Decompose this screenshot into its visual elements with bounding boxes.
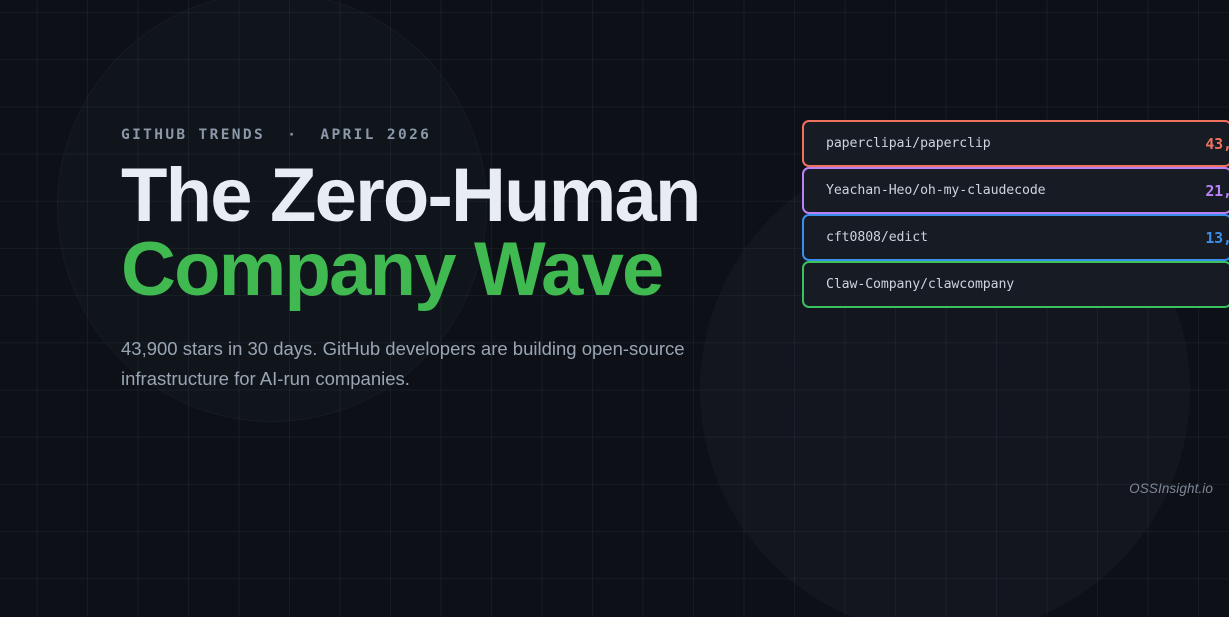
repo-card[interactable]: Yeachan-Heo/oh-my-claudecode 21,015 ★ bbox=[802, 167, 1229, 214]
eyebrow-label: GITHUB TRENDS · APRIL 2026 bbox=[121, 128, 821, 143]
repo-star-group: 43,911 ★ bbox=[1205, 135, 1229, 153]
watermark: OSSInsight.io bbox=[1129, 481, 1213, 496]
headline-column: GITHUB TRENDS · APRIL 2026 The Zero-Huma… bbox=[121, 128, 821, 394]
repo-name: Claw-Company/clawcompany bbox=[826, 277, 1014, 292]
repo-name: cft0808/edict bbox=[826, 230, 928, 245]
headline-line-1: The Zero-Human bbox=[121, 159, 821, 234]
repo-name: Yeachan-Heo/oh-my-claudecode bbox=[826, 183, 1046, 198]
page-title: The Zero-Human Company Wave bbox=[121, 159, 821, 309]
subtitle-text: 43,900 stars in 30 days. GitHub develope… bbox=[121, 334, 701, 394]
social-card: GITHUB TRENDS · APRIL 2026 The Zero-Huma… bbox=[0, 0, 1229, 617]
repo-star-group: 21,015 ★ bbox=[1205, 182, 1229, 200]
trending-repo-list: paperclipai/paperclip 43,911 ★ Yeachan-H… bbox=[802, 120, 1229, 308]
repo-star-count: 43,911 bbox=[1205, 135, 1229, 153]
repo-star-count: 13,905 bbox=[1205, 229, 1229, 247]
headline-line-2: Company Wave bbox=[121, 233, 821, 308]
repo-card[interactable]: cft0808/edict 13,905 ★ bbox=[802, 214, 1229, 261]
repo-name: paperclipai/paperclip bbox=[826, 136, 991, 151]
repo-star-group: 13,905 ★ bbox=[1205, 229, 1229, 247]
repo-star-count: 21,015 bbox=[1205, 182, 1229, 200]
repo-card[interactable]: paperclipai/paperclip 43,911 ★ bbox=[802, 120, 1229, 167]
repo-card[interactable]: Claw-Company/clawcompany 749 ★ bbox=[802, 261, 1229, 308]
